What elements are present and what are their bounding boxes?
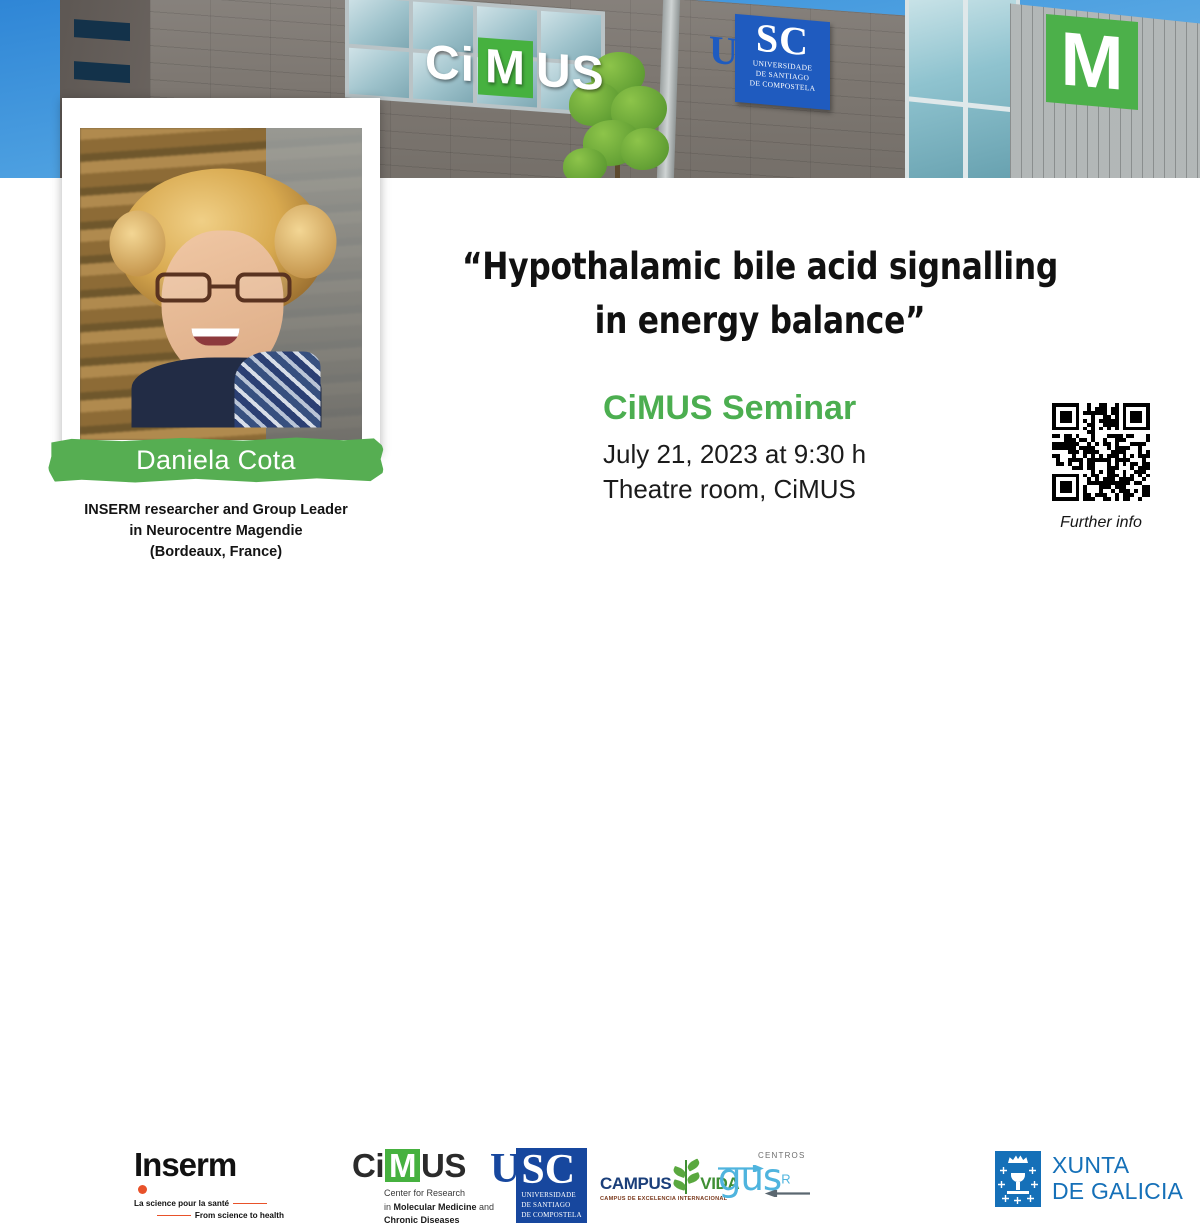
speaker-name: Daniela Cota <box>48 437 384 483</box>
usc-blue-box: SC UNIVERSIDADE DE SANTIAGO DE COMPOSTEL… <box>516 1148 586 1223</box>
qr-code-block[interactable]: Further info <box>1052 403 1150 532</box>
sign-usc-u: U <box>709 26 738 76</box>
inserm-tagline-fr: La science pour la santé <box>134 1199 229 1208</box>
scarf <box>235 352 321 428</box>
gus-superscript-r: R <box>781 1172 790 1187</box>
usc-subtitle: UNIVERSIDADE DE SANTIAGO DE COMPOSTELA <box>521 1191 581 1220</box>
usc-sub-3: DE COMPOSTELA <box>521 1211 581 1221</box>
talk-title: “Hypothalamic bile acid signalling in en… <box>450 240 1070 347</box>
inserm-tagline-fr-row: La science pour la santé <box>134 1199 284 1208</box>
campus-word: CAMPUS <box>600 1174 671 1194</box>
inserm-rule-2 <box>157 1215 191 1216</box>
usc-sc: SC <box>521 1147 575 1193</box>
sign-usc-subtitle: UNIVERSIDADE DE SANTIAGO DE COMPOSTELA <box>735 57 830 96</box>
sign-cimus-post: US <box>536 42 605 102</box>
affiliation-line-2: in Neurocentre Magendie <box>20 521 412 542</box>
inserm-wordmark: Inserm <box>134 1148 284 1181</box>
qr-caption: Further info <box>1046 514 1156 532</box>
event-datetime: July 21, 2023 at 9:30 h <box>603 439 866 470</box>
plant-icon <box>673 1160 699 1194</box>
cimus-tagline: Center for Research in Molecular Medicin… <box>384 1187 494 1228</box>
cimus-tag-line-3: Chronic Diseases <box>384 1214 494 1228</box>
logo-xunta-de-galicia: XUNTA DE GALICIA <box>995 1151 1183 1207</box>
portrait-figure <box>114 169 329 424</box>
cimus-pre: Ci <box>352 1149 384 1182</box>
speaker-name-banner: Daniela Cota <box>48 437 384 483</box>
usc-sub-1: UNIVERSIDADE <box>521 1191 581 1201</box>
qr-module <box>1146 497 1150 501</box>
cimus-post: US <box>421 1149 466 1182</box>
inserm-rule-1 <box>233 1203 267 1204</box>
chalice-icon <box>1011 1173 1025 1190</box>
inserm-tagline-en-row: From science to health <box>134 1211 284 1220</box>
event-type: CiMUS Seminar <box>603 389 856 428</box>
cimus-tag-3: Chronic Diseases <box>384 1215 460 1225</box>
logo-gus: CENTROS gusR <box>718 1151 806 1195</box>
glasses-icon <box>156 273 292 303</box>
inserm-tagline-en: From science to health <box>195 1211 284 1220</box>
talk-title-line-2: in energy balance” <box>450 294 1070 348</box>
gus-arrow-left-icon <box>764 1190 810 1197</box>
footer-logo-strip: Inserm La science pour la santé From sci… <box>0 565 1200 675</box>
event-location: Theatre room, CiMUS <box>603 474 856 505</box>
cimus-m-tile: M <box>385 1149 420 1182</box>
speaker-affiliation: INSERM researcher and Group Leader in Ne… <box>20 500 412 563</box>
cimus-tag-2b: Molecular Medicine <box>394 1202 477 1212</box>
chalice-base <box>1007 1191 1029 1194</box>
gus-arrow-right-icon <box>718 1165 766 1172</box>
logo-inserm: Inserm La science pour la santé From sci… <box>134 1148 284 1220</box>
logo-cimus: Ci M US Center for Research in Molecular… <box>352 1149 494 1228</box>
speaker-portrait <box>80 128 362 440</box>
cimus-wordmark: Ci M US <box>352 1149 494 1182</box>
inserm-dot-icon <box>138 1185 147 1194</box>
affiliation-line-1: INSERM researcher and Group Leader <box>20 500 412 521</box>
building-sign-green-m: M <box>1046 14 1138 110</box>
affiliation-line-3: (Bordeaux, France) <box>20 542 412 563</box>
glass-window <box>905 0 1020 178</box>
cimus-tag-line-2: in Molecular Medicine and <box>384 1201 494 1215</box>
xunta-line-2: DE GALICIA <box>1052 1179 1183 1205</box>
usc-row: U SC UNIVERSIDADE DE SANTIAGO DE COMPOST… <box>490 1148 587 1223</box>
sign-usc-sc: SC <box>735 17 830 63</box>
logo-usc: U SC UNIVERSIDADE DE SANTIAGO DE COMPOST… <box>490 1148 587 1223</box>
sign-cimus-m-tile: M <box>478 37 533 98</box>
crown-icon <box>1008 1155 1028 1163</box>
cimus-tag-line-1: Center for Research <box>384 1187 494 1201</box>
building-sign-usc: U SC UNIVERSIDADE DE SANTIAGO DE COMPOST… <box>735 14 830 110</box>
cimus-tag-2a: in <box>384 1202 394 1212</box>
xunta-line-1: XUNTA <box>1052 1153 1183 1179</box>
qr-code[interactable] <box>1052 403 1150 501</box>
usc-sub-2: DE SANTIAGO <box>521 1201 581 1211</box>
xunta-shield-icon <box>995 1151 1041 1207</box>
xunta-wordmark: XUNTA DE GALICIA <box>1052 1153 1183 1205</box>
talk-title-line-1: “Hypothalamic bile acid signalling <box>450 240 1070 294</box>
sign-cimus-pre: Ci <box>425 35 475 93</box>
